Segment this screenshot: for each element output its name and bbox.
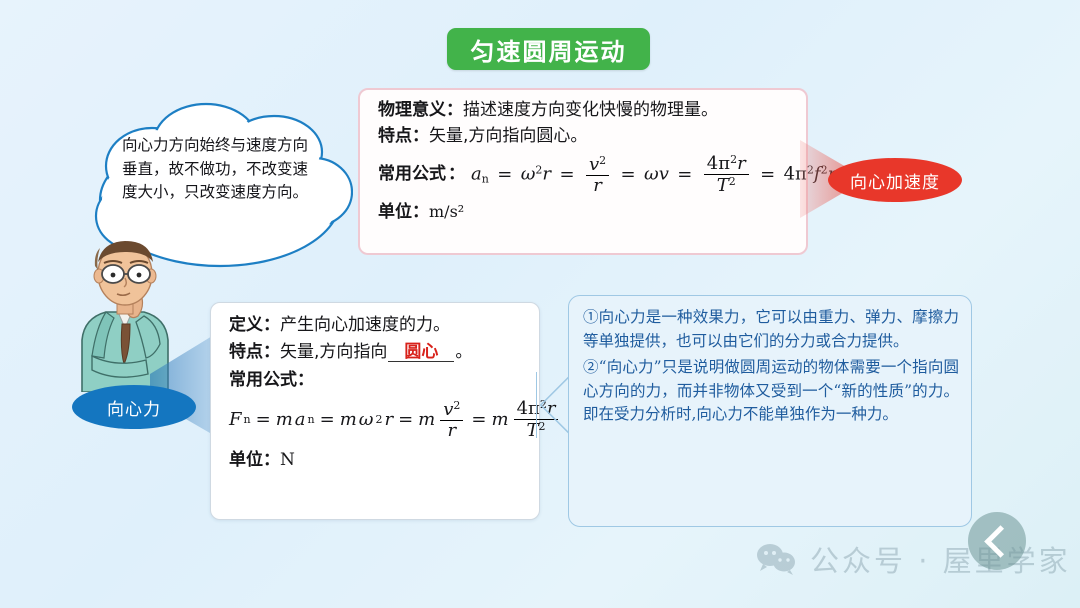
notes-card: ①向心力是一种效果力，它可以由重力、弹力、摩擦力等单独提供，也可以由它们的分力或… xyxy=(568,295,972,527)
wechat-icon xyxy=(756,542,796,576)
force-unit-row: 单位：N xyxy=(229,452,525,469)
centripetal-force-card: 定义：产生向心加速度的力。 特点：矢量,方向指向圆心。 常用公式： Fn = m… xyxy=(210,302,540,520)
accel-formula-math: an = ω2r = v2r = ωv = 4π2rT2 = 4π2f2r xyxy=(471,154,836,195)
note-item: ②“向心力”只是说明做圆周运动的物体需要一个指向圆心方向的力，而并非物体又受到一… xyxy=(583,356,959,428)
force-feature-value-before: 矢量,方向指向 xyxy=(280,342,387,362)
force-feature-label: 特点 xyxy=(229,342,263,362)
accel-meaning-sep: ： xyxy=(446,100,463,120)
accel-meaning-label: 物理意义 xyxy=(378,100,446,120)
force-unit-label: 单位 xyxy=(229,450,263,470)
accel-meaning-row: 物理意义：描述速度方向变化快慢的物理量。 xyxy=(378,102,792,119)
force-unit-value: N xyxy=(280,450,295,470)
accel-formula-sep: ： xyxy=(448,166,465,183)
force-feature-value-after: 。 xyxy=(455,342,472,362)
centripetal-acceleration-card: 物理意义：描述速度方向变化快慢的物理量。 特点：矢量,方向指向圆心。 常用公式：… xyxy=(358,88,808,255)
accel-feature-sep: ： xyxy=(412,126,429,146)
back-button[interactable] xyxy=(968,512,1026,570)
acceleration-banner: 向心加速度 xyxy=(828,158,962,202)
accel-feature-label: 特点 xyxy=(378,126,412,146)
accel-feature-row: 特点：矢量,方向指向圆心。 xyxy=(378,128,792,145)
force-definition-sep: ： xyxy=(263,315,280,335)
cloud-text: 向心力方向始终与速度方向垂直，故不做功，不改变速度大小，只改变速度方向。 xyxy=(122,134,322,205)
accel-unit-value: m/s² xyxy=(429,202,464,221)
force-definition-label: 定义 xyxy=(229,315,263,335)
force-banner: 向心力 xyxy=(72,385,196,429)
force-formula-sep: ： xyxy=(297,370,314,390)
force-formula-label: 常用公式 xyxy=(229,370,297,390)
accel-meaning-value: 描述速度方向变化快慢的物理量。 xyxy=(463,100,718,120)
page-title-text: 匀速圆周运动 xyxy=(471,32,627,67)
force-feature-highlight: 圆心 xyxy=(388,344,454,362)
accel-feature-value: 矢量,方向指向圆心。 xyxy=(429,126,587,146)
watermark-text: 公众号 · 屋里学家 xyxy=(810,538,1071,580)
accel-unit-label: 单位 xyxy=(378,202,412,222)
force-definition-row: 定义：产生向心加速度的力。 xyxy=(229,317,525,334)
accel-unit-sep: ： xyxy=(412,202,429,222)
force-formula-math: Fn = man = mω2r = m v2r = m 4π2rT2 xyxy=(229,399,525,440)
slide-canvas: 匀速圆周运动 向心力方向始终与速度方向垂直，故不做功，不改变速度大小，只改变速度 xyxy=(0,0,1080,608)
force-feature-row: 特点：矢量,方向指向圆心。 xyxy=(229,344,525,362)
note-item: ①向心力是一种效果力，它可以由重力、弹力、摩擦力等单独提供，也可以由它们的分力或… xyxy=(583,306,959,354)
chevron-left-icon xyxy=(984,525,1017,558)
force-definition-value: 产生向心加速度的力。 xyxy=(280,315,450,335)
accel-formula-row: 常用公式： an = ω2r = v2r = ωv = 4π2rT2 = 4π2… xyxy=(378,154,792,195)
force-unit-sep: ： xyxy=(263,450,280,470)
accel-formula-label: 常用公式 xyxy=(378,166,446,183)
page-title: 匀速圆周运动 xyxy=(447,28,650,70)
force-feature-sep: ： xyxy=(263,342,280,362)
acceleration-banner-label: 向心加速度 xyxy=(850,168,940,193)
force-banner-label: 向心力 xyxy=(107,395,161,420)
force-formula-label-row: 常用公式： xyxy=(229,372,525,389)
accel-unit-row: 单位：m/s² xyxy=(378,204,792,221)
